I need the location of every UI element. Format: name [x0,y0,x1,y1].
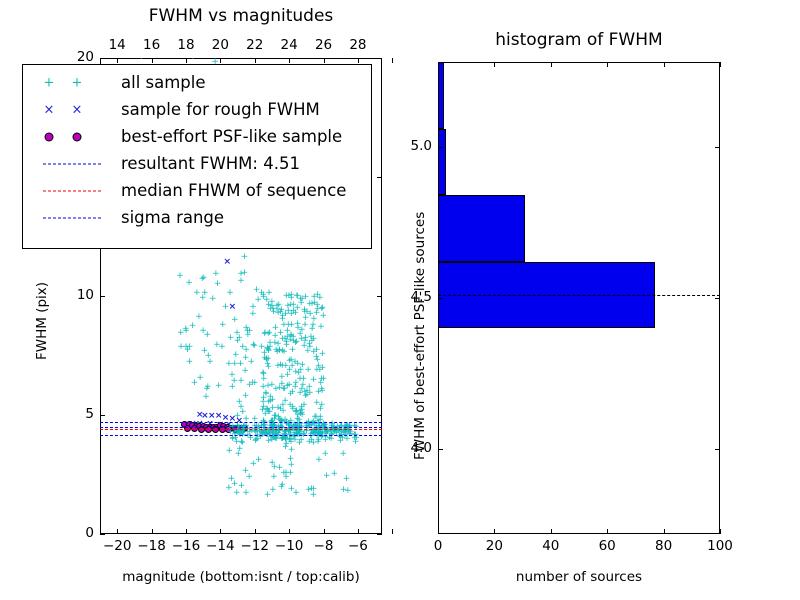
y-tickmark-right [715,147,720,148]
x-tick-label: −12 [237,538,273,554]
scatter-point-all: + [298,326,306,335]
scatter-point-all: + [271,332,279,341]
scatter-point-all: + [307,333,315,342]
scatter-point-all: + [271,432,279,441]
scatter-point-all: + [283,327,291,336]
scatter-point-all: + [281,435,289,444]
y-tickmark-right [377,534,382,535]
y-tick-label: 5 [56,406,94,422]
scatter-point-all: + [305,486,313,495]
x-tick-label: −8 [306,538,342,554]
scatter-point-all: + [319,312,327,321]
scatter-point-all: + [291,339,299,348]
scatter-point-all: + [279,407,287,416]
scatter-point-all: + [232,434,240,443]
scatter-point-all: + [314,291,322,300]
scatter-point-all: + [316,294,324,303]
scatter-point-all: + [269,486,277,495]
scatter-point-all: + [303,387,311,396]
scatter-point-all: + [263,355,271,364]
scatter-point-all: + [232,351,240,360]
scatter-point-all: + [278,481,286,490]
scatter-point-all: + [274,362,282,371]
x-tick-label: −6 [340,538,376,554]
scatter-point-all: + [266,393,274,402]
scatter-point-all: + [266,343,274,352]
scatter-point-all: + [289,333,297,342]
scatter-point-all: + [308,325,316,334]
x-tickmark-top [438,62,439,67]
scatter-point-all: + [302,392,310,401]
scatter-point-all: + [278,435,286,444]
scatter-point-all: + [274,404,282,413]
scatter-point-all: + [265,346,273,355]
scatter-point-all: + [264,491,272,500]
scatter-point-all: + [278,380,286,389]
scatter-point-all: + [255,456,263,465]
scatter-point-all: + [202,393,210,402]
scatter-point-all: + [196,374,204,383]
scatter-point-rough: × [223,258,231,267]
scatter-point-all: + [274,309,282,318]
scatter-point-all: + [186,343,194,352]
scatter-point-all: + [281,335,289,344]
scatter-point-all: + [218,343,226,352]
scatter-point-all: + [239,343,247,352]
scatter-point-rough: × [215,412,223,421]
scatter-point-all: + [273,302,281,311]
legend-key: ×× [29,96,121,123]
scatter-point-all: + [283,333,291,342]
scatter-point-all: + [298,406,306,415]
scatter-point-all: + [295,439,303,448]
scatter-point-all: + [318,432,326,441]
scatter-point-all: + [234,412,242,421]
left-panel-ylabel: FWHM (pix) [34,282,50,360]
line-icon [43,190,101,191]
scatter-point-all: + [344,487,352,496]
circle-icon [45,132,54,141]
scatter-point-all: + [263,429,271,438]
y-tickmark [100,534,105,535]
scatter-point-all: + [263,405,271,414]
scatter-point-all: + [318,401,326,410]
scatter-point-all: + [247,358,255,367]
scatter-point-all: + [237,360,245,369]
x-tickmark-top [117,58,118,63]
right-panel-ylabel: FWHM of best-effort PSF-like sources [412,212,428,460]
scatter-point-all: + [273,305,281,314]
scatter-point-all: + [278,362,286,371]
scatter-point-all: + [137,58,145,62]
y-tick-label: 0 [56,525,94,541]
x-tick-label: 100 [698,538,742,554]
scatter-point-all: + [261,429,269,438]
scatter-point-all: + [246,327,254,336]
scatter-point-all: + [314,305,322,314]
scatter-point-all: + [259,383,267,392]
scatter-point-all: + [299,375,307,384]
scatter-point-all: + [310,348,318,357]
legend-item-1: ××sample for rough FWHM [29,96,371,123]
scatter-point-all: + [289,337,297,346]
x-tickmark [551,529,552,534]
scatter-point-all: + [316,366,324,375]
scatter-point-all: + [193,289,201,298]
scatter-point-all: + [280,348,288,357]
x-tickmark-top [220,58,221,63]
legend-label: sample for rough FWHM [121,100,320,119]
scatter-point-all: + [225,484,233,493]
scatter-point-all: + [304,347,312,356]
x-tick-label: −18 [134,538,170,554]
scatter-point-all: + [231,316,239,325]
scatter-point-all: + [282,440,290,449]
scatter-point-all: + [336,437,344,446]
scatter-point-all: + [235,429,243,438]
scatter-point-all: + [298,335,306,344]
scatter-point-all: + [286,436,294,445]
x-tick-label-top: 18 [168,37,204,53]
scatter-point-all: + [263,345,271,354]
scatter-point-all: + [198,275,206,284]
scatter-point-all: + [277,329,285,338]
legend-label: sigma range [121,208,224,227]
scatter-point-all: + [277,306,285,315]
y-tickmark-right [715,449,720,450]
scatter-point-all: + [294,411,302,420]
scatter-point-all: + [281,397,289,406]
scatter-point-all: + [313,301,321,310]
scatter-point-all: + [332,429,340,438]
scatter-point-all: + [291,383,299,392]
scatter-point-all: + [289,346,297,355]
scatter-point-all: + [261,330,269,339]
scatter-point-all: + [296,295,304,304]
x-tick-label-top: 20 [202,37,238,53]
x-tickmark-top [358,58,359,63]
scatter-point-all: + [309,439,317,448]
scatter-point-all: + [288,388,296,397]
scatter-point-all: + [274,340,282,349]
scatter-point-all: + [276,464,284,473]
scatter-point-all: + [301,321,309,330]
x-tick-label: −10 [271,538,307,554]
scatter-point-all: + [309,321,317,330]
scatter-point-all: + [298,385,306,394]
scatter-point-all: + [258,429,266,438]
scatter-point-all: + [286,336,294,345]
scatter-point-all: + [230,377,238,386]
scatter-point-all: + [299,381,307,390]
scatter-point-all: + [282,473,290,482]
scatter-point-all: + [295,369,303,378]
scatter-point-all: + [298,411,306,420]
scatter-point-all: + [318,350,326,359]
scatter-point-all: + [238,439,246,448]
scatter-point-all: + [293,304,301,313]
median-fwhm-line [100,429,382,430]
scatter-point-all: + [259,293,267,302]
scatter-point-all: + [182,343,190,352]
y-tickmark-right [715,298,720,299]
scatter-point-all: + [268,436,276,445]
scatter-point-all: + [268,396,276,405]
scatter-point-all: + [261,329,269,338]
scatter-point-all: + [229,423,237,432]
legend-label: resultant FWHM: 4.51 [121,154,300,173]
x-tickmark-top [607,62,608,67]
scatter-point-all: + [262,431,270,440]
legend-item-4: median FHWM of sequence [29,177,371,204]
scatter-point-all: + [214,280,222,289]
scatter-point-all: + [287,291,295,300]
scatter-point-all: + [293,429,301,438]
legend-label: best-effort PSF-like sample [121,127,342,146]
scatter-point-all: + [177,343,185,352]
scatter-point-all: + [263,360,271,369]
scatter-point-all: + [287,301,295,310]
scatter-point-all: + [268,429,276,438]
scatter-point-all: + [317,405,325,414]
scatter-point-all: + [302,293,310,302]
scatter-point-all: + [287,461,295,470]
scatter-point-all: + [313,432,321,441]
scatter-point-all: + [200,274,208,283]
scatter-point-all: + [300,342,308,351]
scatter-point-all: + [225,360,233,369]
scatter-point-all: + [252,286,260,295]
x-tickmark [152,529,153,534]
scatter-point-all: + [313,356,321,365]
right-panel-xlabel: number of sources [438,569,720,585]
scatter-point-all: + [301,388,309,397]
x-tick-label-top: 16 [134,37,170,53]
x-tickmark [664,529,665,534]
scatter-point-all: + [270,473,278,482]
scatter-point-all: + [305,438,313,447]
scatter-point-all: + [287,435,295,444]
scatter-point-all: + [279,401,287,410]
scatter-point-all: + [292,408,300,417]
x-tick-label: 40 [529,538,573,554]
scatter-point-all: + [271,412,279,421]
scatter-point-all: + [286,357,294,366]
scatter-point-all: + [261,354,269,363]
scatter-point-rough: × [201,412,209,421]
scatter-point-all: + [283,382,291,391]
scatter-point-all: + [298,295,306,304]
scatter-point-all: + [184,346,192,355]
scatter-point-all: + [268,298,276,307]
scatter-point-all: + [291,309,299,318]
scatter-point-all: + [268,381,276,390]
scatter-point-all: + [281,435,289,444]
scatter-point-all: + [259,369,267,378]
scatter-point-all: + [231,480,239,489]
scatter-point-all: + [252,437,260,446]
scatter-point-all: + [260,375,268,384]
scatter-point-all: + [215,382,223,391]
scatter-point-all: + [241,467,249,476]
y-tickmark [100,296,105,297]
scatter-point-all: + [266,305,274,314]
scatter-point-all: + [237,270,245,279]
cross-icon: × [44,102,55,117]
histogram-bar [438,195,525,262]
scatter-point-all: + [303,391,311,400]
scatter-point-all: + [298,361,306,370]
scatter-point-all: + [309,491,317,500]
scatter-point-all: + [260,370,268,379]
scatter-point-all: + [306,389,314,398]
scatter-point-all: + [317,323,325,332]
scatter-point-all: + [298,403,306,412]
scatter-point-all: + [249,310,257,319]
scatter-point-all: + [251,379,259,388]
legend-label: median FHWM of sequence [121,181,346,200]
scatter-point-all: + [284,428,292,437]
scatter-point-all: + [281,385,289,394]
scatter-point-all: + [229,435,237,444]
scatter-point-all: + [288,362,296,371]
scatter-point-all: + [269,305,277,314]
scatter-point-all: + [287,423,295,432]
scatter-point-all: + [297,410,305,419]
scatter-point-all: + [318,387,326,396]
scatter-point-all: + [308,300,316,309]
scatter-point-all: + [266,408,274,417]
scatter-point-all: + [246,381,254,390]
scatter-point-all: + [249,303,257,312]
scatter-point-all: + [313,399,321,408]
resultant-fwhm-line [100,427,382,428]
scatter-point-all: + [294,324,302,333]
scatter-point-all: + [313,346,321,355]
scatter-point-all: + [189,322,197,331]
scatter-point-all: + [315,456,323,465]
scatter-point-all: + [291,432,299,441]
scatter-point-all: + [240,269,248,278]
scatter-point-all: + [259,406,267,415]
scatter-point-all: + [318,304,326,313]
scatter-point-all: + [241,367,249,376]
scatter-point-all: + [300,306,308,315]
scatter-point-all: + [286,401,294,410]
x-tickmark-top [289,58,290,63]
scatter-point-all: + [268,459,276,468]
scatter-point-rough: × [196,411,204,420]
scatter-point-all: + [310,335,318,344]
scatter-point-all: + [238,438,246,447]
scatter-point-all: + [190,379,198,388]
scatter-point-all: + [313,366,321,375]
scatter-point-all: + [292,368,300,377]
scatter-point-all: + [199,327,207,336]
scatter-point-all: + [272,346,280,355]
scatter-point-all: + [293,292,301,301]
scatter-point-rough: × [208,412,216,421]
y-tick-label: 5.0 [392,138,432,154]
scatter-point-all: + [237,277,245,286]
x-tick-label-top: 26 [306,37,342,53]
scatter-point-all: + [262,390,270,399]
scatter-point-all: + [204,383,212,392]
scatter-point-all: + [263,296,271,305]
scatter-point-all: + [264,355,272,364]
scatter-point-rough: × [228,303,236,312]
scatter-point-all: + [240,253,248,262]
scatter-point-all: + [310,485,318,494]
scatter-point-all: + [237,403,245,412]
plus-icon: + [44,75,55,90]
scatter-point-all: + [263,344,271,353]
legend-label: all sample [121,73,206,92]
scatter-point-all: + [271,435,279,444]
x-tickmark [494,529,495,534]
scatter-point-all: + [315,436,323,445]
scatter-point-all: + [309,376,317,385]
scatter-point-all: + [262,356,270,365]
line-icon [43,217,101,218]
scatter-point-all: + [239,423,247,432]
x-tick-label-top: 28 [340,37,376,53]
scatter-point-all: + [245,473,253,482]
scatter-point-all: + [305,340,313,349]
scatter-point-all: + [269,404,277,413]
x-tick-label-top: 22 [237,37,273,53]
scatter-point-all: + [258,289,266,298]
scatter-point-all: + [227,475,235,484]
scatter-point-all: + [213,341,221,350]
x-tick-label-top: 24 [271,37,307,53]
scatter-point-all: + [310,293,318,302]
scatter-point-all: + [233,489,241,498]
legend-item-5: sigma range [29,204,371,231]
scatter-point-all: + [260,349,268,358]
y-tickmark [100,415,105,416]
scatter-point-all: + [294,360,302,369]
scatter-point-all: + [265,329,273,338]
scatter-point-all: + [252,436,260,445]
scatter-point-all: + [287,438,295,447]
scatter-point-all: + [259,291,267,300]
scatter-point-all: + [293,415,301,424]
scatter-point-all: + [292,489,300,498]
scatter-point-all: + [274,429,282,438]
x-tickmark [117,529,118,534]
scatter-point-all: + [182,327,190,336]
scatter-point-all: + [249,379,257,388]
scatter-point-all: + [289,403,297,412]
scatter-point-all: + [226,289,234,298]
scatter-point-all: + [254,296,262,305]
y-tickmark-right [377,415,382,416]
scatter-point-all: + [259,403,267,412]
scatter-point-all: + [204,352,212,361]
scatter-point-all: + [318,385,326,394]
scatter-point-all: + [225,447,233,456]
scatter-point-all: + [265,408,273,417]
scatter-point-all: + [261,410,269,419]
scatter-point-all: + [209,295,217,304]
scatter-point-all: + [284,307,292,316]
scatter-point-all: + [185,358,193,367]
scatter-point-all: + [200,347,208,356]
x-tick-label-top: 14 [99,37,135,53]
scatter-point-all: + [266,339,274,348]
y-tickmark [438,449,443,450]
